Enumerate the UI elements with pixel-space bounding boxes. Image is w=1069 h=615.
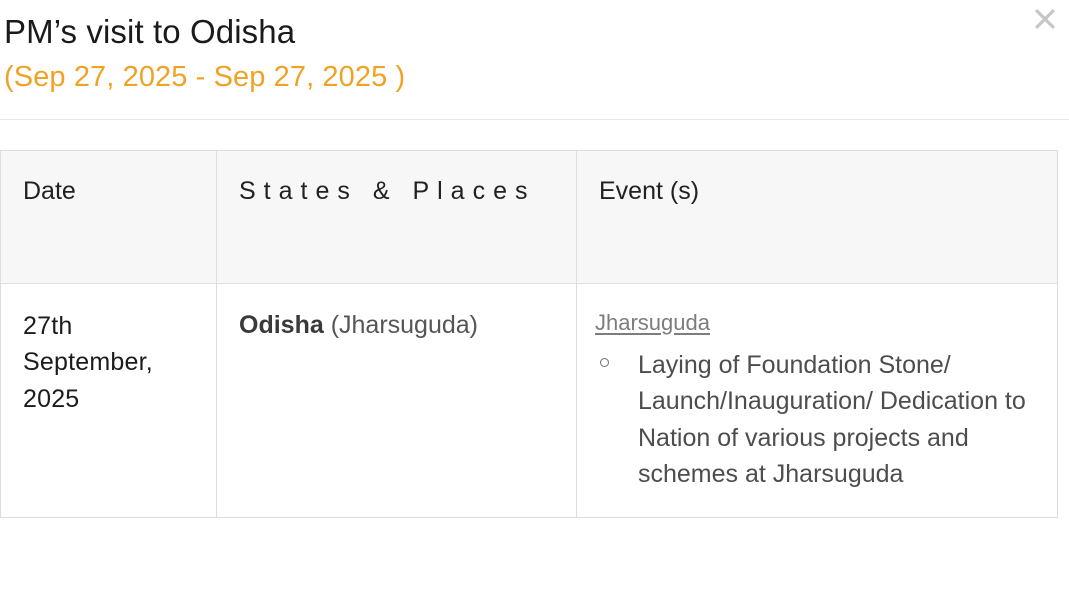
- table-row: 27th September, 2025 Odisha (Jharsuguda)…: [1, 283, 1058, 517]
- close-icon-glyph: [1032, 6, 1058, 32]
- cell-events: Jharsuguda Laying of Foundation Stone/ L…: [577, 283, 1058, 517]
- close-icon[interactable]: [1028, 2, 1062, 36]
- table-container: Date States & Places Event (s) 27th Sept…: [0, 120, 1069, 518]
- event-list: Laying of Foundation Stone/ Launch/Inaug…: [595, 347, 1039, 493]
- table-head: Date States & Places Event (s): [1, 150, 1058, 283]
- cell-states-places: Odisha (Jharsuguda): [217, 283, 577, 517]
- page-title: PM’s visit to Odisha: [0, 0, 1069, 53]
- modal-header: PM’s visit to Odisha (Sep 27, 2025 - Sep…: [0, 0, 1069, 120]
- table-body: 27th September, 2025 Odisha (Jharsuguda)…: [1, 283, 1058, 517]
- event-text: Laying of Foundation Stone/ Launch/Inaug…: [638, 351, 1026, 489]
- header-divider: [0, 119, 1069, 120]
- visit-schedule-table: Date States & Places Event (s) 27th Sept…: [0, 150, 1058, 518]
- list-item: Laying of Foundation Stone/ Launch/Inaug…: [595, 347, 1039, 493]
- visit-date-range: (Sep 27, 2025 - Sep 27, 2025 ): [0, 53, 1069, 97]
- circle-bullet-icon: [600, 358, 609, 367]
- column-header-events: Event (s): [577, 150, 1058, 283]
- column-header-states-places: States & Places: [217, 150, 577, 283]
- state-place: (Jharsuguda): [324, 311, 478, 339]
- table-header-row: Date States & Places Event (s): [1, 150, 1058, 283]
- column-header-date: Date: [1, 150, 217, 283]
- state-name: Odisha: [239, 311, 324, 339]
- event-place-link[interactable]: Jharsuguda: [595, 309, 710, 338]
- cell-date: 27th September, 2025: [1, 283, 217, 517]
